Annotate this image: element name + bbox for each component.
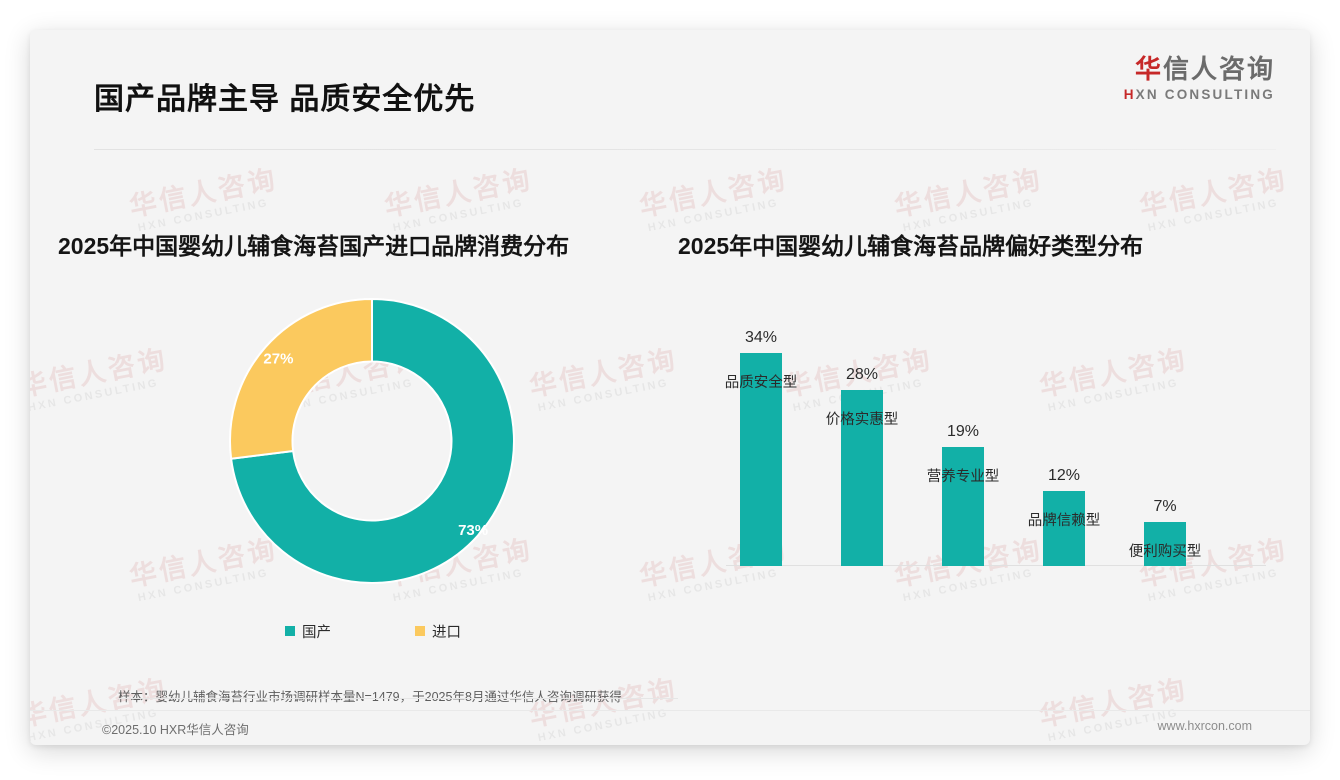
copyright-text: ©2025.10 HXR华信人咨询	[102, 719, 249, 738]
left-chart-title: 2025年中国婴幼儿辅食海苔国产进口品牌消费分布	[58, 227, 569, 261]
donut-chart-svg: 73%27%	[223, 292, 521, 590]
watermark-text: 华信人咨询HXN CONSULTING	[527, 346, 682, 415]
right-chart-title: 2025年中国婴幼儿辅食海苔品牌偏好类型分布	[678, 227, 1143, 261]
bar-column: 12%品牌信赖型	[1014, 491, 1114, 566]
legend-label: 进口	[432, 621, 461, 642]
bar-category-label: 价格实惠型	[812, 408, 912, 429]
sample-footnote: 样本：婴幼儿辅食海苔行业市场调研样本量N=1479，于2025年8月通过华信人咨…	[118, 686, 622, 705]
bar-column: 34%品质安全型	[711, 353, 811, 566]
website-text: www.hxrcon.com	[1158, 719, 1252, 733]
footnote-divider	[118, 698, 678, 699]
slide-header: 国产品牌主导 品质安全优先 华信人咨询 HXN CONSULTING	[30, 30, 1310, 122]
bar-column: 19%营养专业型	[913, 447, 1013, 566]
watermark-text: 华信人咨询HXN CONSULTING	[892, 166, 1047, 235]
logo-english-rest: XN CONSULTING	[1136, 87, 1275, 102]
header-divider	[94, 149, 1276, 150]
legend-item[interactable]: 国产	[285, 621, 331, 642]
bar-category-label: 便利购买型	[1115, 540, 1215, 561]
watermark-text: 华信人咨询HXN CONSULTING	[127, 166, 282, 235]
donut-slice-value: 73%	[458, 522, 488, 539]
donut-slices	[230, 299, 514, 583]
donut-chart: 73%27%	[223, 292, 521, 590]
donut-slice[interactable]	[230, 299, 372, 459]
bar-value-label: 28%	[812, 366, 912, 384]
bar-category-label: 营养专业型	[913, 465, 1013, 486]
watermark-text: 华信人咨询HXN CONSULTING	[30, 346, 173, 415]
page-title: 国产品牌主导 品质安全优先	[94, 74, 475, 118]
logo-chinese-rest: 信人咨询	[1163, 54, 1275, 84]
legend-swatch	[415, 626, 425, 636]
slide-card: 华信人咨询HXN CONSULTING华信人咨询HXN CONSULTING华信…	[30, 30, 1310, 745]
bar-value-label: 12%	[1014, 467, 1114, 485]
watermark-text: 华信人咨询HXN CONSULTING	[1137, 166, 1292, 235]
bar-value-label: 34%	[711, 329, 811, 347]
donut-legend: 国产进口	[223, 620, 523, 642]
bar-chart: 34%品质安全型28%价格实惠型19%营养专业型12%品牌信赖型7%便利购买型	[670, 292, 1280, 622]
bar-column: 28%价格实惠型	[812, 390, 912, 566]
donut-slice-value: 27%	[263, 350, 293, 367]
bar-column: 7%便利购买型	[1115, 522, 1215, 566]
brand-logo: 华信人咨询 HXN CONSULTING	[1124, 56, 1275, 102]
bar-value-label: 19%	[913, 423, 1013, 441]
legend-swatch	[285, 626, 295, 636]
legend-item[interactable]: 进口	[415, 621, 461, 642]
logo-english: HXN CONSULTING	[1124, 87, 1275, 102]
bar-category-label: 品质安全型	[711, 371, 811, 392]
bottom-divider	[30, 710, 1310, 711]
legend-label: 国产	[302, 621, 331, 642]
logo-chinese: 华信人咨询	[1124, 56, 1275, 83]
logo-english-accent: H	[1124, 87, 1136, 102]
bar-value-label: 7%	[1115, 498, 1215, 516]
watermark-text: 华信人咨询HXN CONSULTING	[382, 166, 537, 235]
logo-chinese-accent: 华	[1135, 54, 1163, 84]
watermark-text: 华信人咨询HXN CONSULTING	[637, 166, 792, 235]
bar-category-label: 品牌信赖型	[1014, 509, 1114, 530]
